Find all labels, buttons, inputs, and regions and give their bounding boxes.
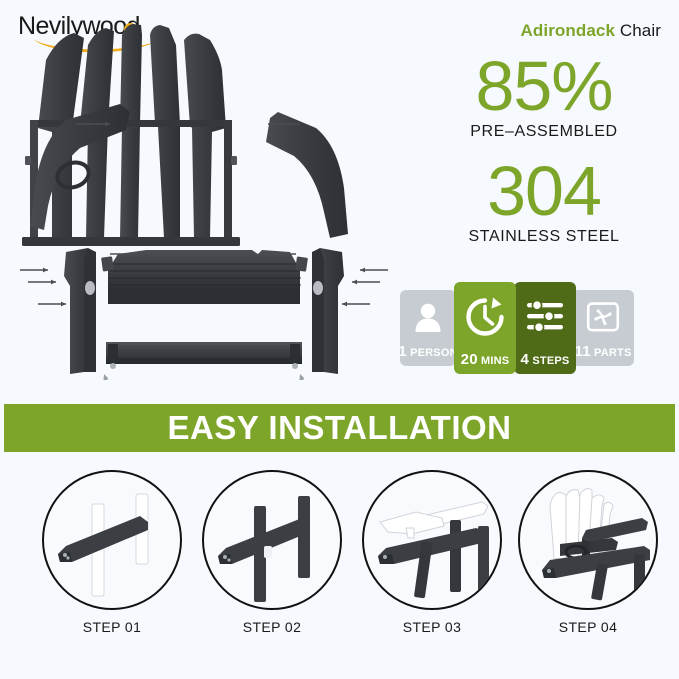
banner-title: EASY INSTALLATION <box>167 409 511 447</box>
badge-person-unit: PERSON <box>410 347 456 359</box>
stat-pre-assembled: 85% PRE–ASSEMBLED <box>429 50 659 141</box>
spec-badges: 1 PERSON 20 MINS <box>400 282 640 374</box>
installation-steps: STEP 01 STEP 02 <box>0 470 679 670</box>
stat-value: 304 <box>429 155 659 227</box>
badge-person: 1 PERSON <box>400 290 456 366</box>
badge-parts: 11 PARTS <box>572 290 634 366</box>
product-title-brand: Adirondack <box>521 21 616 40</box>
stat-label: PRE–ASSEMBLED <box>429 123 659 141</box>
cross-brace-with-screws <box>103 342 304 380</box>
product-infographic-page: Nevilywood Adirondack Chair 85% PRE–ASSE… <box>0 0 679 679</box>
person-icon <box>400 290 456 343</box>
step-02-illustration <box>202 470 342 610</box>
brace-screw-left <box>110 363 116 369</box>
parts-icon <box>572 290 634 343</box>
badge-parts-unit: PARTS <box>594 347 631 359</box>
stat-label: STAINLESS STEEL <box>429 228 659 246</box>
badge-time-label: 20 MINS <box>461 351 510 374</box>
step-03: STEP 03 <box>352 470 512 635</box>
product-title-type: Chair <box>615 21 661 40</box>
product-title: Adirondack Chair <box>521 21 661 41</box>
badge-time: 20 MINS <box>454 282 516 374</box>
badge-time-number: 20 <box>461 351 478 368</box>
badge-person-label: 1 PERSON <box>400 343 456 366</box>
step-04-illustration <box>518 470 658 610</box>
step-02-label: STEP 02 <box>192 619 352 635</box>
step-01-label: STEP 01 <box>32 619 192 635</box>
badge-person-number: 1 <box>400 343 407 360</box>
badge-steps-unit: STEPS <box>532 355 569 367</box>
badge-parts-number: 11 <box>575 343 591 360</box>
step-01-illustration <box>42 470 182 610</box>
right-screw-boss <box>313 281 323 295</box>
left-screw-boss <box>85 281 95 295</box>
step-03-illustration <box>362 470 502 610</box>
clock-icon <box>454 282 516 351</box>
stat-value: 85% <box>429 50 659 122</box>
badge-parts-label: 11 PARTS <box>575 343 632 366</box>
loose-screws <box>103 374 304 380</box>
exploded-parts-diagram <box>0 20 400 380</box>
badge-steps-label: 4 STEPS <box>521 351 570 374</box>
step-04-label: STEP 04 <box>508 619 668 635</box>
right-armrest <box>266 112 348 238</box>
step-04: STEP 04 <box>508 470 668 635</box>
sliders-icon <box>514 282 576 351</box>
brace-screw-right <box>292 363 298 369</box>
step-03-label: STEP 03 <box>352 619 512 635</box>
badge-steps-number: 4 <box>521 351 530 368</box>
step-01: STEP 01 <box>32 470 192 635</box>
badge-time-unit: MINS <box>481 355 509 367</box>
left-leg-support <box>64 248 96 374</box>
right-leg-support <box>312 248 344 374</box>
stat-stainless-steel: 304 STAINLESS STEEL <box>429 155 659 246</box>
badge-steps: 4 STEPS <box>514 282 576 374</box>
exploded-diagram-svg <box>0 20 400 380</box>
easy-installation-banner: EASY INSTALLATION <box>4 404 675 452</box>
step-02: STEP 02 <box>192 470 352 635</box>
seat-slats <box>101 250 308 304</box>
